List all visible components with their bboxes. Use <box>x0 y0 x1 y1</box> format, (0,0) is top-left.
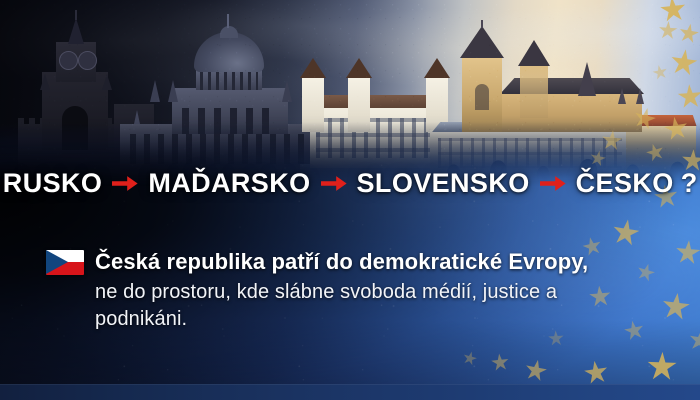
bottom-strip <box>0 384 700 400</box>
body-sub-text: ne do prostoru, kde slábne svoboda médií… <box>95 279 646 332</box>
poster-root: RUSKOMAĎARSKOSLOVENSKOČESKO? Česká repub… <box>0 0 700 400</box>
arrow-right-icon <box>530 175 576 192</box>
skyline-photo-band <box>0 0 700 186</box>
arrow-right-icon <box>311 175 357 192</box>
headline-sequence: RUSKOMAĎARSKOSLOVENSKOČESKO? <box>0 168 700 199</box>
body-bold-text: Česká republika patří do demokratické Ev… <box>95 249 588 275</box>
arrow-right-icon <box>102 175 148 192</box>
headline-word-rusko: RUSKO <box>3 168 103 199</box>
headline-word-maďarsko: MAĎARSKO <box>148 168 310 199</box>
body-block: Česká republika patří do demokratické Ev… <box>46 249 646 332</box>
headline-word-česko: ČESKO <box>576 168 674 199</box>
czech-flag-icon <box>46 250 84 275</box>
photo-grain-texture <box>0 0 700 186</box>
body-first-line: Česká republika patří do demokratické Ev… <box>46 249 646 275</box>
headline-word-slovensko: SLOVENSKO <box>357 168 530 199</box>
headline-question-mark: ? <box>681 168 698 199</box>
